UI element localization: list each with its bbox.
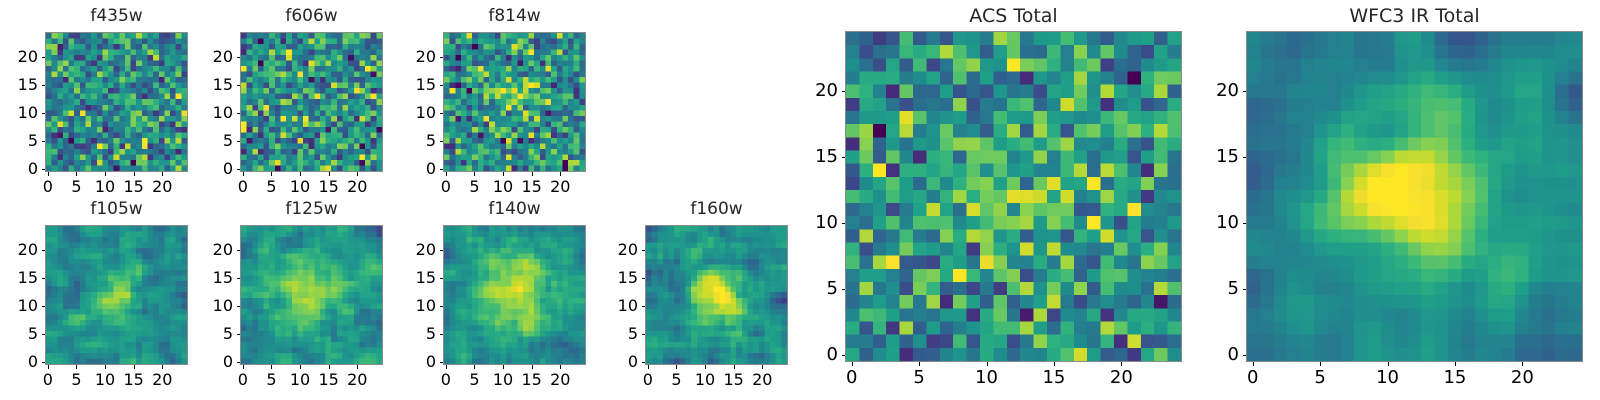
panel-f814w: f814w0510152005101520 [399,6,586,206]
image-axes-f435w [45,32,188,172]
y-tick-label-f606w-20: 20 [196,49,233,65]
x-tick-label-f160w-5: 5 [671,372,681,388]
heatmap-image-f435w [46,33,187,171]
y-tick-label-acs_total-5: 5 [801,280,838,298]
x-tick-label-acs_total-0: 0 [846,369,857,387]
x-tick-label-f606w-0: 0 [238,179,248,195]
panel-f606w: f606w0510152005101520 [196,6,383,206]
y-tick-label-wfc3_ir_total-15: 15 [1202,148,1239,166]
y-tick-wfc3_ir_total-5 [1243,289,1247,290]
x-tick-label-f105w-10: 10 [95,372,115,388]
x-tick-f105w-0 [48,365,49,369]
x-tick-f160w-0 [648,365,649,369]
image-axes-f814w [443,32,586,172]
heatmap-image-acs_total [846,32,1181,361]
y-tick-f105w-15 [42,278,46,279]
heatmap-image-wfc3_ir_total [1247,32,1582,361]
panel-f435w: f435w0510152005101520 [1,6,188,206]
y-tick-label-f814w-10: 10 [399,105,436,121]
image-axes-f125w [240,225,383,365]
heatmap-image-f125w [241,226,382,364]
x-tick-f606w-5 [271,172,272,176]
x-tick-label-f814w-20: 20 [550,179,570,195]
y-tick-label-f814w-15: 15 [399,77,436,93]
x-tick-label-f125w-10: 10 [290,372,310,388]
y-tick-f105w-0 [42,362,46,363]
y-tick-label-f125w-20: 20 [196,242,233,258]
x-tick-f814w-5 [474,172,475,176]
y-tick-label-f160w-5: 5 [601,326,638,342]
y-tick-label-acs_total-0: 0 [801,346,838,364]
x-tick-label-wfc3_ir_total-20: 20 [1511,369,1534,387]
image-axes-f606w [240,32,383,172]
panel-title-wfc3_ir_total: WFC3 IR Total [1246,7,1583,26]
x-tick-label-f105w-20: 20 [152,372,172,388]
y-tick-label-f435w-0: 0 [1,161,38,177]
x-tick-label-f814w-15: 15 [521,179,541,195]
y-tick-acs_total-10 [842,223,846,224]
x-tick-label-acs_total-15: 15 [1042,369,1065,387]
x-tick-f814w-20 [560,172,561,176]
y-tick-acs_total-15 [842,157,846,158]
x-tick-label-f160w-10: 10 [695,372,715,388]
y-tick-acs_total-5 [842,289,846,290]
y-tick-f140w-15 [440,278,444,279]
x-tick-acs_total-10 [987,362,988,366]
x-tick-f105w-15 [134,365,135,369]
y-tick-f140w-20 [440,250,444,251]
y-tick-label-f125w-5: 5 [196,326,233,342]
image-axes-f105w [45,225,188,365]
y-tick-wfc3_ir_total-15 [1243,157,1247,158]
panel-title-f814w: f814w [443,8,586,25]
y-tick-f435w-10 [42,113,46,114]
x-tick-label-f160w-15: 15 [723,372,743,388]
y-tick-f814w-0 [440,169,444,170]
y-tick-f105w-10 [42,306,46,307]
x-tick-f105w-10 [105,365,106,369]
x-tick-f140w-20 [560,365,561,369]
x-tick-f160w-20 [762,365,763,369]
x-tick-label-acs_total-20: 20 [1110,369,1133,387]
y-tick-label-f160w-20: 20 [601,242,638,258]
x-tick-f140w-5 [474,365,475,369]
y-tick-label-f814w-5: 5 [399,133,436,149]
x-tick-f140w-15 [532,365,533,369]
y-tick-f140w-0 [440,362,444,363]
x-tick-f160w-10 [705,365,706,369]
x-tick-f435w-20 [162,172,163,176]
x-tick-f606w-0 [243,172,244,176]
x-tick-f435w-10 [105,172,106,176]
panel-f140w: f140w0510152005101520 [399,199,586,399]
y-tick-acs_total-0 [842,355,846,356]
y-tick-label-wfc3_ir_total-0: 0 [1202,346,1239,364]
x-tick-acs_total-0 [852,362,853,366]
y-tick-label-f105w-0: 0 [1,354,38,370]
x-tick-label-f160w-0: 0 [643,372,653,388]
figure-canvas: f435w0510152005101520f606w05101520051015… [0,0,1600,400]
y-tick-label-f814w-20: 20 [399,49,436,65]
y-tick-f435w-5 [42,141,46,142]
x-tick-label-f814w-0: 0 [441,179,451,195]
y-tick-label-f814w-0: 0 [399,161,436,177]
x-tick-f435w-0 [48,172,49,176]
y-tick-label-f140w-10: 10 [399,298,436,314]
y-tick-f125w-20 [237,250,241,251]
x-tick-label-f814w-10: 10 [493,179,513,195]
y-tick-label-f105w-5: 5 [1,326,38,342]
x-tick-f125w-20 [357,365,358,369]
x-tick-wfc3_ir_total-15 [1455,362,1456,366]
x-tick-f435w-5 [76,172,77,176]
x-tick-label-wfc3_ir_total-10: 10 [1376,369,1399,387]
heatmap-image-f105w [46,226,187,364]
y-tick-label-f105w-20: 20 [1,242,38,258]
x-tick-label-f606w-10: 10 [290,179,310,195]
y-tick-f160w-5 [642,334,646,335]
x-tick-f125w-15 [329,365,330,369]
x-tick-acs_total-20 [1121,362,1122,366]
y-tick-label-f160w-0: 0 [601,354,638,370]
x-tick-f125w-5 [271,365,272,369]
y-tick-label-f125w-15: 15 [196,270,233,286]
y-tick-label-wfc3_ir_total-10: 10 [1202,214,1239,232]
x-tick-label-f105w-15: 15 [123,372,143,388]
y-tick-acs_total-20 [842,91,846,92]
panel-wfc3_ir_total: WFC3 IR Total0510152005101520 [1202,5,1583,396]
x-tick-f606w-15 [329,172,330,176]
y-tick-f140w-10 [440,306,444,307]
heatmap-image-f160w [646,226,787,364]
x-tick-f606w-10 [300,172,301,176]
x-tick-label-f606w-20: 20 [347,179,367,195]
y-tick-f105w-20 [42,250,46,251]
y-tick-wfc3_ir_total-0 [1243,355,1247,356]
y-tick-label-f140w-20: 20 [399,242,436,258]
y-tick-label-f125w-0: 0 [196,354,233,370]
panel-title-f125w: f125w [240,201,383,218]
y-tick-wfc3_ir_total-20 [1243,91,1247,92]
y-tick-label-f606w-0: 0 [196,161,233,177]
x-tick-label-f140w-20: 20 [550,372,570,388]
y-tick-f140w-5 [440,334,444,335]
y-tick-f606w-5 [237,141,241,142]
y-tick-f125w-5 [237,334,241,335]
y-tick-f435w-20 [42,57,46,58]
y-tick-f435w-0 [42,169,46,170]
y-tick-label-wfc3_ir_total-5: 5 [1202,280,1239,298]
x-tick-label-acs_total-5: 5 [913,369,924,387]
x-tick-wfc3_ir_total-20 [1522,362,1523,366]
y-tick-label-f606w-15: 15 [196,77,233,93]
x-tick-label-f160w-20: 20 [752,372,772,388]
y-tick-f814w-5 [440,141,444,142]
y-tick-label-f435w-10: 10 [1,105,38,121]
x-tick-label-f435w-10: 10 [95,179,115,195]
x-tick-label-acs_total-10: 10 [975,369,998,387]
x-tick-label-f435w-15: 15 [123,179,143,195]
y-tick-label-acs_total-15: 15 [801,148,838,166]
x-tick-label-wfc3_ir_total-5: 5 [1314,369,1325,387]
y-tick-label-f140w-0: 0 [399,354,436,370]
y-tick-f435w-15 [42,85,46,86]
x-tick-f105w-5 [76,365,77,369]
x-tick-f814w-0 [446,172,447,176]
y-tick-f105w-5 [42,334,46,335]
panel-title-acs_total: ACS Total [845,7,1182,26]
x-tick-label-f140w-5: 5 [469,372,479,388]
x-tick-wfc3_ir_total-0 [1253,362,1254,366]
x-tick-label-f125w-5: 5 [266,372,276,388]
image-axes-f160w [645,225,788,365]
x-tick-label-f606w-15: 15 [318,179,338,195]
y-tick-label-f140w-15: 15 [399,270,436,286]
x-tick-label-f140w-15: 15 [521,372,541,388]
x-tick-f160w-15 [734,365,735,369]
x-tick-f435w-15 [134,172,135,176]
y-tick-label-f105w-15: 15 [1,270,38,286]
x-tick-f140w-10 [503,365,504,369]
y-tick-f160w-15 [642,278,646,279]
panel-title-f105w: f105w [45,201,188,218]
y-tick-f606w-15 [237,85,241,86]
x-tick-label-f125w-20: 20 [347,372,367,388]
x-tick-wfc3_ir_total-5 [1320,362,1321,366]
y-tick-f125w-0 [237,362,241,363]
y-tick-f814w-10 [440,113,444,114]
y-tick-f125w-15 [237,278,241,279]
y-tick-f160w-20 [642,250,646,251]
x-tick-label-f105w-5: 5 [71,372,81,388]
x-tick-label-f435w-20: 20 [152,179,172,195]
y-tick-f814w-15 [440,85,444,86]
y-tick-f606w-10 [237,113,241,114]
y-tick-label-f606w-10: 10 [196,105,233,121]
y-tick-f814w-20 [440,57,444,58]
x-tick-label-f105w-0: 0 [43,372,53,388]
x-tick-label-f125w-15: 15 [318,372,338,388]
x-tick-f140w-0 [446,365,447,369]
x-tick-label-f140w-10: 10 [493,372,513,388]
y-tick-label-acs_total-20: 20 [801,82,838,100]
heatmap-image-f814w [444,33,585,171]
x-tick-f814w-10 [503,172,504,176]
y-tick-label-f105w-10: 10 [1,298,38,314]
y-tick-label-f125w-10: 10 [196,298,233,314]
x-tick-f105w-20 [162,365,163,369]
x-tick-acs_total-5 [919,362,920,366]
x-tick-f125w-10 [300,365,301,369]
panel-title-f140w: f140w [443,201,586,218]
y-tick-f606w-0 [237,169,241,170]
panel-f160w: f160w0510152005101520 [601,199,788,399]
y-tick-f125w-10 [237,306,241,307]
image-axes-f140w [443,225,586,365]
x-tick-label-wfc3_ir_total-0: 0 [1247,369,1258,387]
y-tick-wfc3_ir_total-10 [1243,223,1247,224]
x-tick-acs_total-15 [1054,362,1055,366]
x-tick-label-f435w-5: 5 [71,179,81,195]
y-tick-label-f160w-15: 15 [601,270,638,286]
x-tick-f606w-20 [357,172,358,176]
x-tick-f814w-15 [532,172,533,176]
y-tick-label-f140w-5: 5 [399,326,436,342]
x-tick-label-f435w-0: 0 [43,179,53,195]
x-tick-label-f814w-5: 5 [469,179,479,195]
heatmap-image-f140w [444,226,585,364]
panel-acs_total: ACS Total0510152005101520 [801,5,1182,396]
heatmap-image-f606w [241,33,382,171]
panel-f105w: f105w0510152005101520 [1,199,188,399]
x-tick-label-f140w-0: 0 [441,372,451,388]
y-tick-f606w-20 [237,57,241,58]
x-tick-wfc3_ir_total-10 [1388,362,1389,366]
y-tick-f160w-0 [642,362,646,363]
panel-title-f435w: f435w [45,8,188,25]
panel-title-f160w: f160w [645,201,788,218]
x-tick-f125w-0 [243,365,244,369]
y-tick-label-acs_total-10: 10 [801,214,838,232]
y-tick-label-f606w-5: 5 [196,133,233,149]
y-tick-label-f435w-15: 15 [1,77,38,93]
x-tick-f160w-5 [676,365,677,369]
image-axes-wfc3_ir_total [1246,31,1583,362]
panel-f125w: f125w0510152005101520 [196,199,383,399]
y-tick-label-wfc3_ir_total-20: 20 [1202,82,1239,100]
image-axes-acs_total [845,31,1182,362]
y-tick-label-f435w-20: 20 [1,49,38,65]
x-tick-label-f606w-5: 5 [266,179,276,195]
y-tick-f160w-10 [642,306,646,307]
y-tick-label-f435w-5: 5 [1,133,38,149]
y-tick-label-f160w-10: 10 [601,298,638,314]
panel-title-f606w: f606w [240,8,383,25]
x-tick-label-f125w-0: 0 [238,372,248,388]
x-tick-label-wfc3_ir_total-15: 15 [1443,369,1466,387]
